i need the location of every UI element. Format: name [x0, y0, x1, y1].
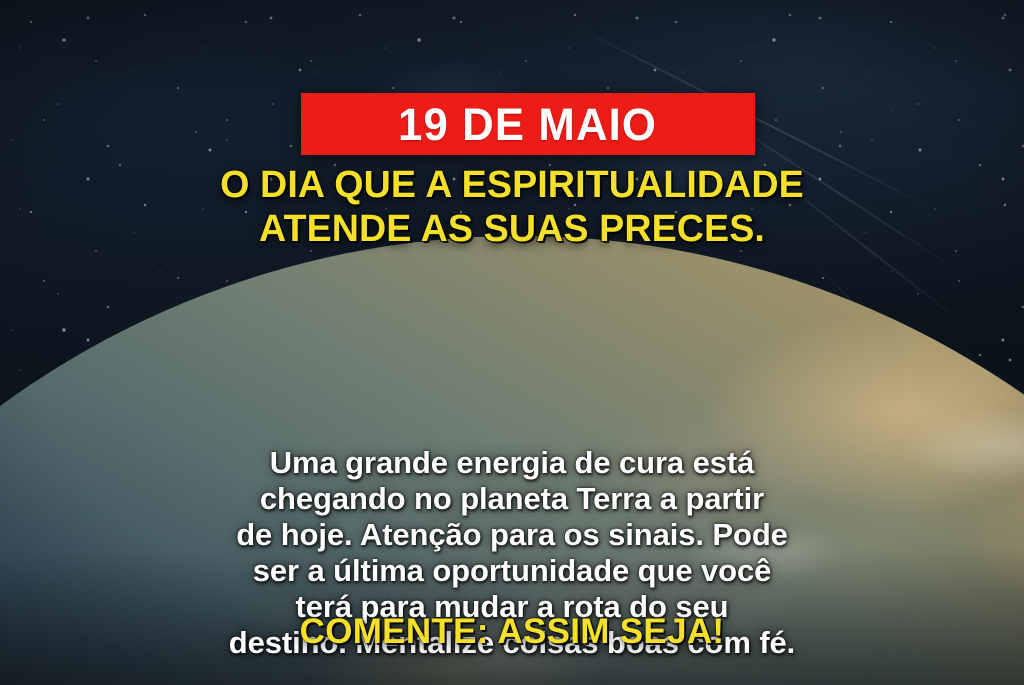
poster-canvas: 19 DE MAIO O DIA QUE A ESPIRITUALIDADE A…: [0, 0, 1024, 685]
date-banner-label: 19 DE MAIO: [398, 102, 657, 147]
headline-text: O DIA QUE A ESPIRITUALIDADE ATENDE AS SU…: [5, 163, 1019, 251]
call-to-action-text: COMENTE: ASSIM SEJA!: [0, 613, 1024, 652]
content-layer: 19 DE MAIO O DIA QUE A ESPIRITUALIDADE A…: [0, 0, 1024, 685]
date-banner: 19 DE MAIO: [301, 93, 755, 155]
